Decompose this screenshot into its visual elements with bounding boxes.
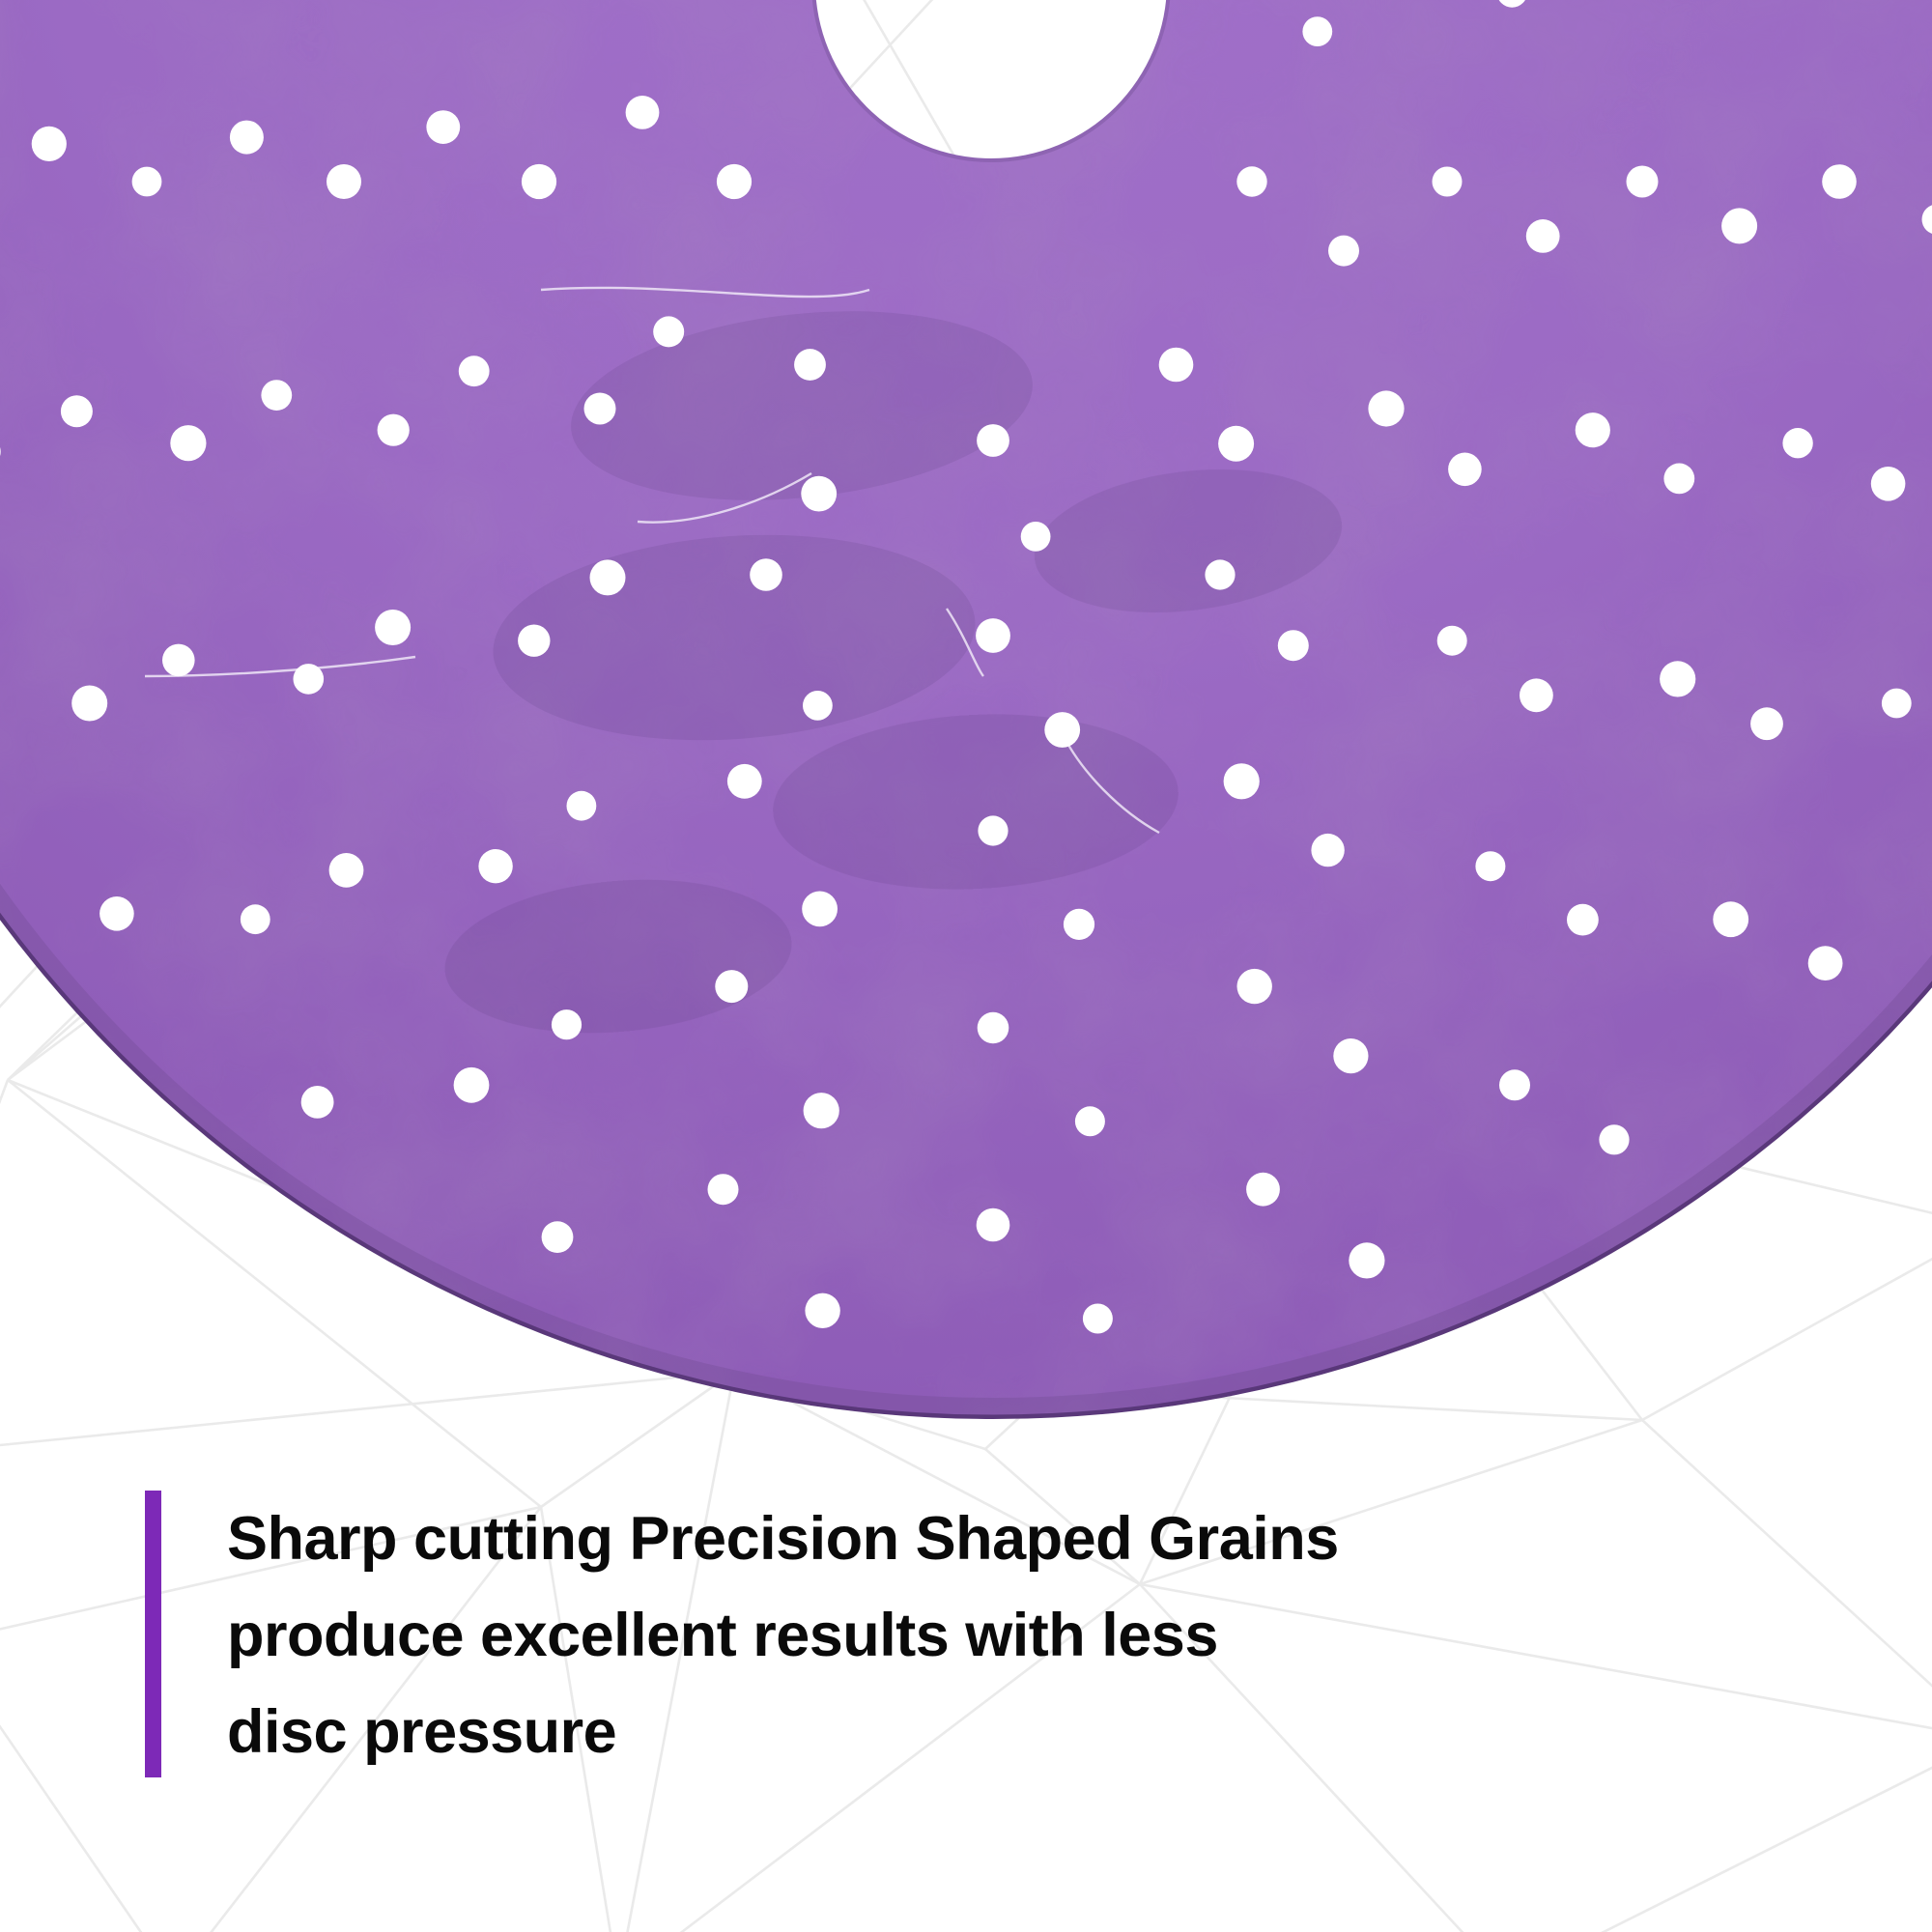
perforation-hole	[978, 815, 1008, 845]
perforation-hole	[1021, 522, 1051, 552]
perforation-hole	[805, 1293, 839, 1328]
perforation-hole	[1433, 167, 1463, 197]
perforation-hole	[1044, 712, 1080, 748]
caption-line-2: produce excellent results with less	[227, 1587, 1339, 1684]
perforation-hole	[1822, 164, 1857, 199]
perforation-hole	[1205, 559, 1235, 589]
perforation-hole	[715, 970, 748, 1003]
perforation-hole	[727, 764, 762, 799]
perforation-hole	[978, 1012, 1009, 1044]
perforation-hole	[552, 1009, 582, 1039]
perforation-hole	[241, 904, 270, 934]
perforation-hole	[1499, 1069, 1530, 1100]
caption-line-3: disc pressure	[227, 1684, 1339, 1780]
perforation-hole	[708, 1174, 739, 1205]
perforation-hole	[1750, 707, 1783, 740]
perforation-hole	[454, 1067, 490, 1103]
perforation-hole	[1311, 834, 1344, 867]
perforation-hole	[327, 164, 361, 199]
perforation-hole	[1237, 969, 1272, 1004]
perforation-hole	[804, 1093, 839, 1128]
perforation-hole	[1448, 453, 1482, 487]
perforation-hole	[1627, 166, 1659, 198]
caption-line-1: Sharp cutting Precision Shaped Grains	[227, 1491, 1339, 1587]
perforation-hole	[1368, 390, 1404, 426]
perforation-hole	[1576, 412, 1610, 447]
perforation-hole	[459, 355, 490, 386]
perforation-hole	[1882, 689, 1912, 719]
caption-text: Sharp cutting Precision Shaped Grains pr…	[227, 1491, 1339, 1780]
perforation-hole	[1349, 1242, 1384, 1278]
perforation-hole	[61, 395, 93, 427]
perforation-hole	[590, 559, 626, 595]
perforation-hole	[522, 164, 556, 199]
perforation-hole	[294, 664, 325, 695]
perforation-hole	[1333, 1038, 1368, 1073]
perforation-hole	[518, 625, 550, 657]
perforation-hole	[1075, 1106, 1105, 1136]
perforation-hole	[1663, 464, 1694, 495]
perforation-hole	[1236, 166, 1266, 196]
perforation-hole	[329, 853, 364, 888]
perforation-hole	[170, 425, 206, 461]
perforation-hole	[1064, 909, 1094, 940]
perforation-hole	[1520, 678, 1553, 712]
perforation-hole	[801, 476, 837, 512]
feature-caption: Sharp cutting Precision Shaped Grains pr…	[145, 1491, 1339, 1780]
perforation-hole	[542, 1221, 574, 1253]
perforation-hole	[1159, 348, 1194, 383]
perforation-hole	[1218, 426, 1254, 462]
perforation-hole	[802, 892, 838, 927]
perforation-hole	[378, 414, 410, 446]
perforation-hole	[976, 618, 1010, 653]
perforation-hole	[71, 686, 107, 722]
perforation-hole	[99, 896, 134, 931]
perforation-hole	[1782, 428, 1812, 458]
perforation-hole	[301, 1086, 334, 1119]
perforation-hole	[626, 96, 660, 129]
perforation-hole	[794, 349, 826, 381]
perforation-hole	[717, 164, 752, 199]
perforation-hole	[803, 691, 833, 721]
perforation-hole	[1660, 661, 1695, 696]
perforation-hole	[1526, 219, 1560, 253]
perforation-hole	[584, 393, 616, 425]
perforation-hole	[375, 610, 411, 645]
perforation-hole	[1599, 1124, 1629, 1154]
perforation-hole	[977, 1208, 1010, 1242]
accent-bar	[145, 1491, 161, 1777]
perforation-hole	[230, 121, 264, 155]
perforation-hole	[478, 849, 512, 883]
perforation-hole	[1302, 16, 1332, 46]
perforation-hole	[1475, 851, 1505, 881]
perforation-hole	[162, 644, 195, 677]
perforation-hole	[1871, 467, 1906, 501]
perforation-hole	[1278, 630, 1309, 661]
perforation-hole	[132, 167, 162, 197]
perforation-hole	[426, 110, 460, 144]
perforation-hole	[1437, 626, 1467, 656]
perforation-hole	[32, 127, 67, 161]
perforation-hole	[1328, 236, 1359, 267]
perforation-hole	[1083, 1304, 1113, 1334]
perforation-hole	[1224, 763, 1260, 799]
perforation-hole	[1567, 904, 1599, 936]
product-feature-card: Sharp cutting Precision Shaped Grains pr…	[0, 0, 1932, 1932]
perforation-hole	[1721, 208, 1757, 243]
perforation-hole	[653, 316, 684, 347]
perforation-hole	[977, 424, 1009, 457]
perforation-hole	[1713, 901, 1748, 937]
perforation-hole	[1808, 946, 1843, 980]
perforation-hole	[750, 558, 782, 591]
perforation-hole	[1246, 1173, 1280, 1207]
perforation-hole	[567, 791, 597, 821]
perforation-hole	[261, 380, 292, 411]
